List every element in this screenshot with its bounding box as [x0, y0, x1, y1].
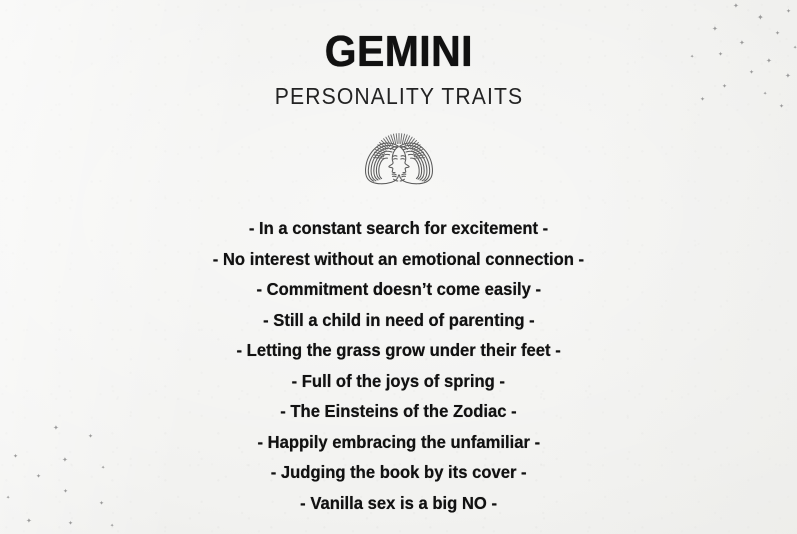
trait-item: - Vanilla sex is a big NO -: [300, 488, 497, 519]
trait-item: - In a constant search for excitement -: [249, 213, 548, 244]
traits-list: - In a constant search for excitement --…: [0, 213, 797, 518]
page-subtitle: PERSONALITY TRAITS: [274, 85, 522, 108]
trait-item: - The Einsteins of the Zodiac -: [280, 396, 516, 427]
twin-left: [365, 143, 398, 184]
trait-item: - Full of the joys of spring -: [292, 366, 505, 397]
gemini-twins-icon: [344, 129, 454, 191]
trait-item: - Commitment doesn’t come easily -: [256, 274, 541, 305]
trait-item: - Happily embracing the unfamiliar -: [257, 427, 540, 458]
trait-item: - Judging the book by its cover -: [271, 457, 527, 488]
trait-item: - Letting the grass grow under their fee…: [236, 335, 560, 366]
poster-content: GEMINI PERSONALITY TRAITS: [0, 0, 797, 534]
page-title: GEMINI: [324, 30, 472, 74]
trait-item: - Still a child in need of parenting -: [263, 305, 535, 336]
twin-right: [399, 143, 432, 184]
trait-item: - No interest without an emotional conne…: [213, 244, 584, 275]
